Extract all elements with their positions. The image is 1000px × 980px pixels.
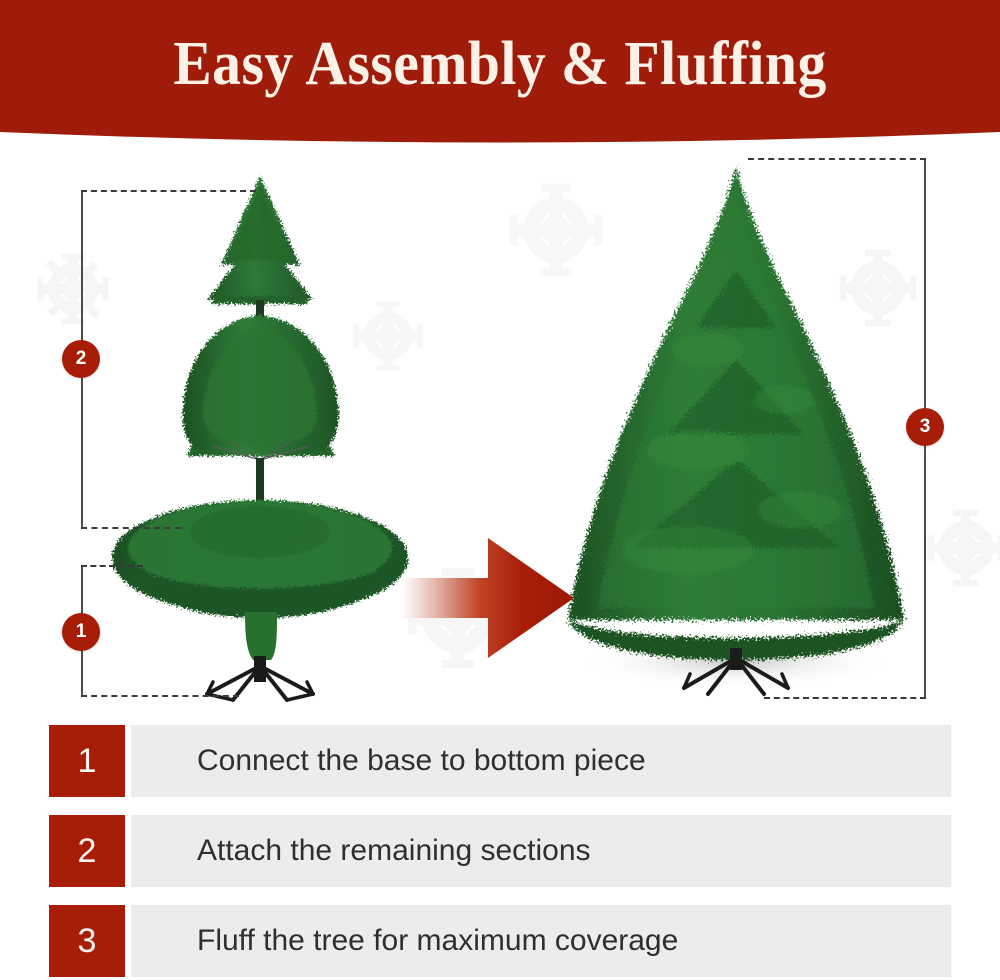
arrow-right-icon [402,528,602,668]
header-banner: Easy Assembly & Fluffing [0,0,1000,150]
step-1-number: 1 [78,742,97,781]
tree-bottom-section [112,500,408,618]
step-row-2[interactable]: 2 Attach the remaining sections [49,815,951,887]
marker-badge-1[interactable]: 1 [62,613,100,651]
transform-arrow [402,528,602,668]
step-2-number-badge: 2 [49,815,125,887]
step-1-number-badge: 1 [49,725,125,797]
tree-stand [207,656,313,700]
illustration-area: 2 1 3 [0,150,1000,715]
tree-middle-section [183,315,339,457]
marker-badge-3-label: 3 [920,416,931,438]
assembled-fluffed-tree [548,150,918,712]
tree-top-section [207,176,313,304]
bracket-1-top-tick [81,565,143,567]
tree-body [568,166,904,660]
snowflake-icon [926,508,1000,588]
middle-section-pole [256,458,264,506]
marker-badge-3[interactable]: 3 [906,408,944,446]
bracket-3-bottom-tick [764,697,926,699]
step-3-text: Fluff the tree for maximum coverage [197,905,678,977]
bracket-3-top-tick [748,158,926,160]
page-title: Easy Assembly & Fluffing [35,26,965,102]
marker-badge-2[interactable]: 2 [62,340,100,378]
marker-badge-2-label: 2 [76,348,87,370]
step-2-text: Attach the remaining sections [197,815,591,887]
bracket-2-bottom-tick [81,527,181,529]
bracket-1-bottom-tick [81,695,239,697]
step-3-number-badge: 3 [49,905,125,977]
bracket-2-top-tick [81,190,256,192]
step-3-number: 3 [78,922,97,961]
infographic-page: Easy Assembly & Fluffing [0,0,1000,980]
steps-list: 1 Connect the base to bottom piece 2 Att… [0,715,1000,980]
marker-badge-1-label: 1 [76,621,87,643]
bottom-section-trunk-foliage [245,612,277,660]
step-1-text: Connect the base to bottom piece [197,725,646,797]
step-2-number: 2 [78,832,97,871]
step-row-3[interactable]: 3 Fluff the tree for maximum coverage [49,905,951,977]
step-row-1[interactable]: 1 Connect the base to bottom piece [49,725,951,797]
disassembled-tree-sections [95,160,425,705]
